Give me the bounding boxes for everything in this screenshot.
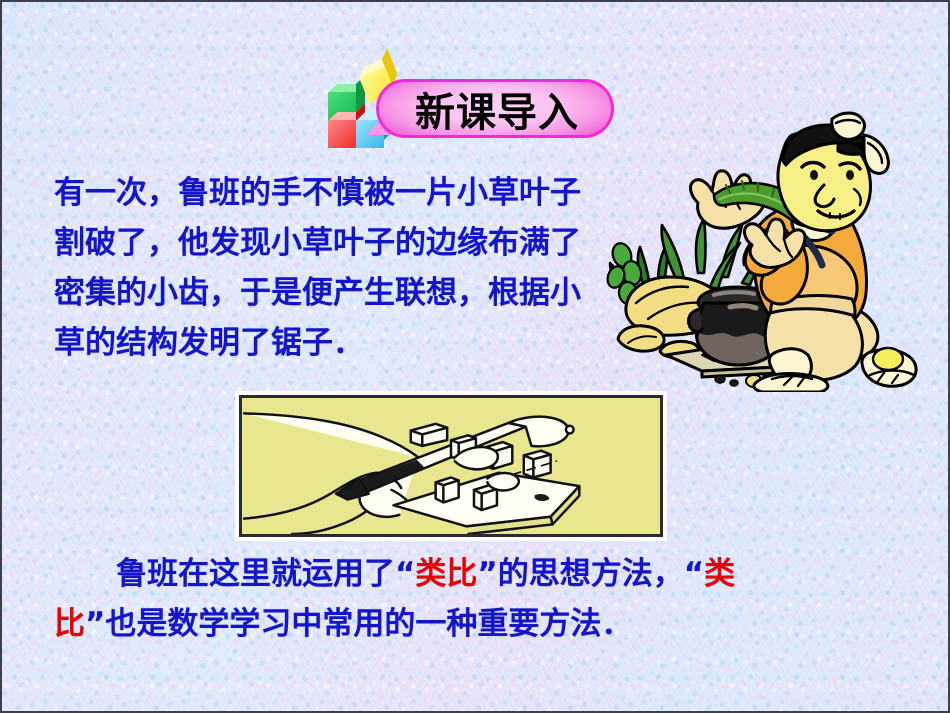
luban-cartoon-figure [602, 107, 948, 392]
saw-diagram-frame [239, 395, 663, 537]
conclusion-paragraph: 鲁班在这里就运用了“类比”的思想方法，“类 比”也是数学学习中常用的一种重要方法… [54, 549, 735, 649]
section-title-banner: 新课导入 [376, 79, 614, 138]
intro-line-3: 密集的小齿，于是便产生联想，根据小 [54, 268, 581, 318]
intro-line-1: 有一次，鲁班的手不慎被一片小草叶子 [54, 168, 581, 218]
intro-line-2: 割破了，他发现小草叶子的边缘布满了 [54, 218, 581, 268]
luban-examining-grass-blade-cartoon [602, 107, 948, 392]
highlight-analogy-2: 类 [704, 556, 735, 592]
saw-diagram-figure [235, 391, 667, 541]
highlight-analogy-1: 类比 [415, 556, 477, 592]
hand-holding-saw-blade-illustration [242, 398, 660, 534]
highlight-analogy-3: 比 [54, 606, 85, 642]
page-title: 新课导入 [376, 79, 614, 138]
intro-paragraph: 有一次，鲁班的手不慎被一片小草叶子 割破了，他发现小草叶子的边缘布满了 密集的小… [54, 168, 581, 368]
conclusion-line-2: 比”也是数学学习中常用的一种重要方法． [54, 599, 735, 649]
conclusion-text-a: 鲁班在这里就运用了“ [54, 556, 415, 592]
conclusion-line-1: 鲁班在这里就运用了“类比”的思想方法，“类 [54, 549, 735, 599]
conclusion-text-c: ”也是数学学习中常用的一种重要方法． [85, 606, 632, 642]
slide-canvas: 新课导入 有一次，鲁班的手不慎被一片小草叶子 割破了，他发现小草叶子的边缘布满了… [0, 0, 950, 713]
intro-line-4: 草的结构发明了锯子． [54, 318, 581, 368]
conclusion-text-b: ”的思想方法，“ [477, 556, 704, 592]
